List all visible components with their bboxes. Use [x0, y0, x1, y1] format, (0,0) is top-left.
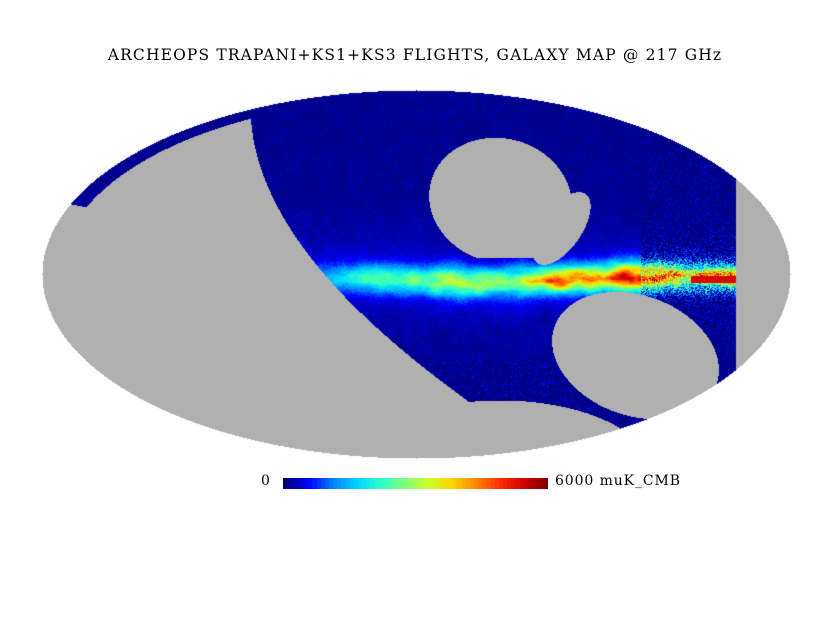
- figure-canvas: ARCHEOPS TRAPANI+KS1+KS3 FLIGHTS, GALAXY…: [0, 0, 830, 642]
- colorbar-gradient: [283, 478, 548, 489]
- colorbar-min-label: 0: [261, 473, 270, 489]
- page-title: ARCHEOPS TRAPANI+KS1+KS3 FLIGHTS, GALAXY…: [0, 46, 830, 64]
- colorbar: 0 6000 muK_CMB: [0, 470, 830, 496]
- colorbar-max-label: 6000 muK_CMB: [555, 473, 681, 489]
- sky-map: [30, 82, 802, 468]
